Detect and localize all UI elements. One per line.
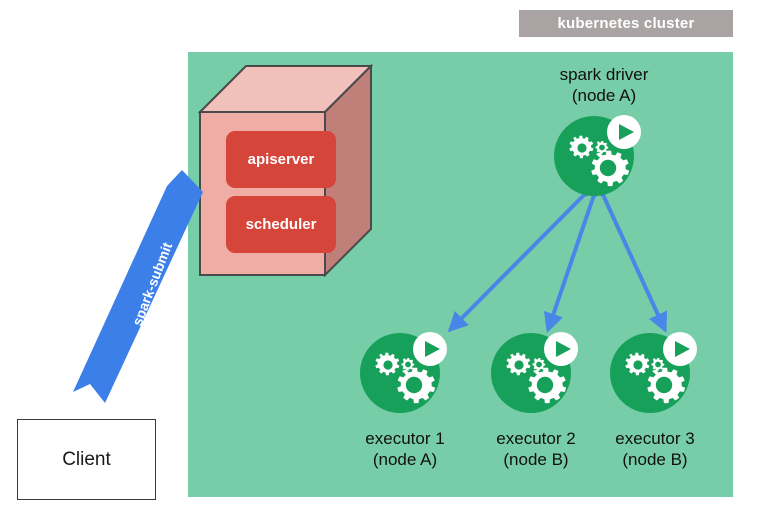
client-box[interactable]: Client: [17, 419, 156, 500]
kubernetes-cluster-label: kubernetes cluster: [519, 10, 733, 37]
diagram-canvas: kubernetes cluster apiserver scheduler s…: [0, 0, 761, 516]
spark-submit-label: spark-submit: [121, 224, 183, 343]
executor-3-subtitle: (node B): [575, 449, 735, 470]
ribbon-polygon: [73, 170, 203, 403]
gears-play-icon: [552, 110, 644, 200]
gears-play-icon: [608, 327, 700, 417]
play-badge-icon: [663, 332, 697, 366]
spark-driver-title: spark driver: [524, 64, 684, 85]
pod-apiserver[interactable]: apiserver: [226, 131, 336, 188]
play-badge-icon: [544, 332, 578, 366]
pod-scheduler[interactable]: scheduler: [226, 196, 336, 253]
spark-driver-node[interactable]: [552, 110, 644, 200]
executor-2-node[interactable]: [489, 327, 581, 417]
play-badge-icon: [607, 115, 641, 149]
spark-driver-subtitle: (node A): [524, 85, 684, 106]
gears-play-icon: [358, 327, 450, 417]
gears-play-icon: [489, 327, 581, 417]
executor-1-node[interactable]: [358, 327, 450, 417]
play-badge-icon: [413, 332, 447, 366]
executor-3-label: executor 3 (node B): [575, 428, 735, 470]
executor-3-title: executor 3: [575, 428, 735, 449]
executor-3-node[interactable]: [608, 327, 700, 417]
control-plane-cube: apiserver scheduler: [198, 64, 373, 279]
spark-driver-label: spark driver (node A): [524, 64, 684, 106]
